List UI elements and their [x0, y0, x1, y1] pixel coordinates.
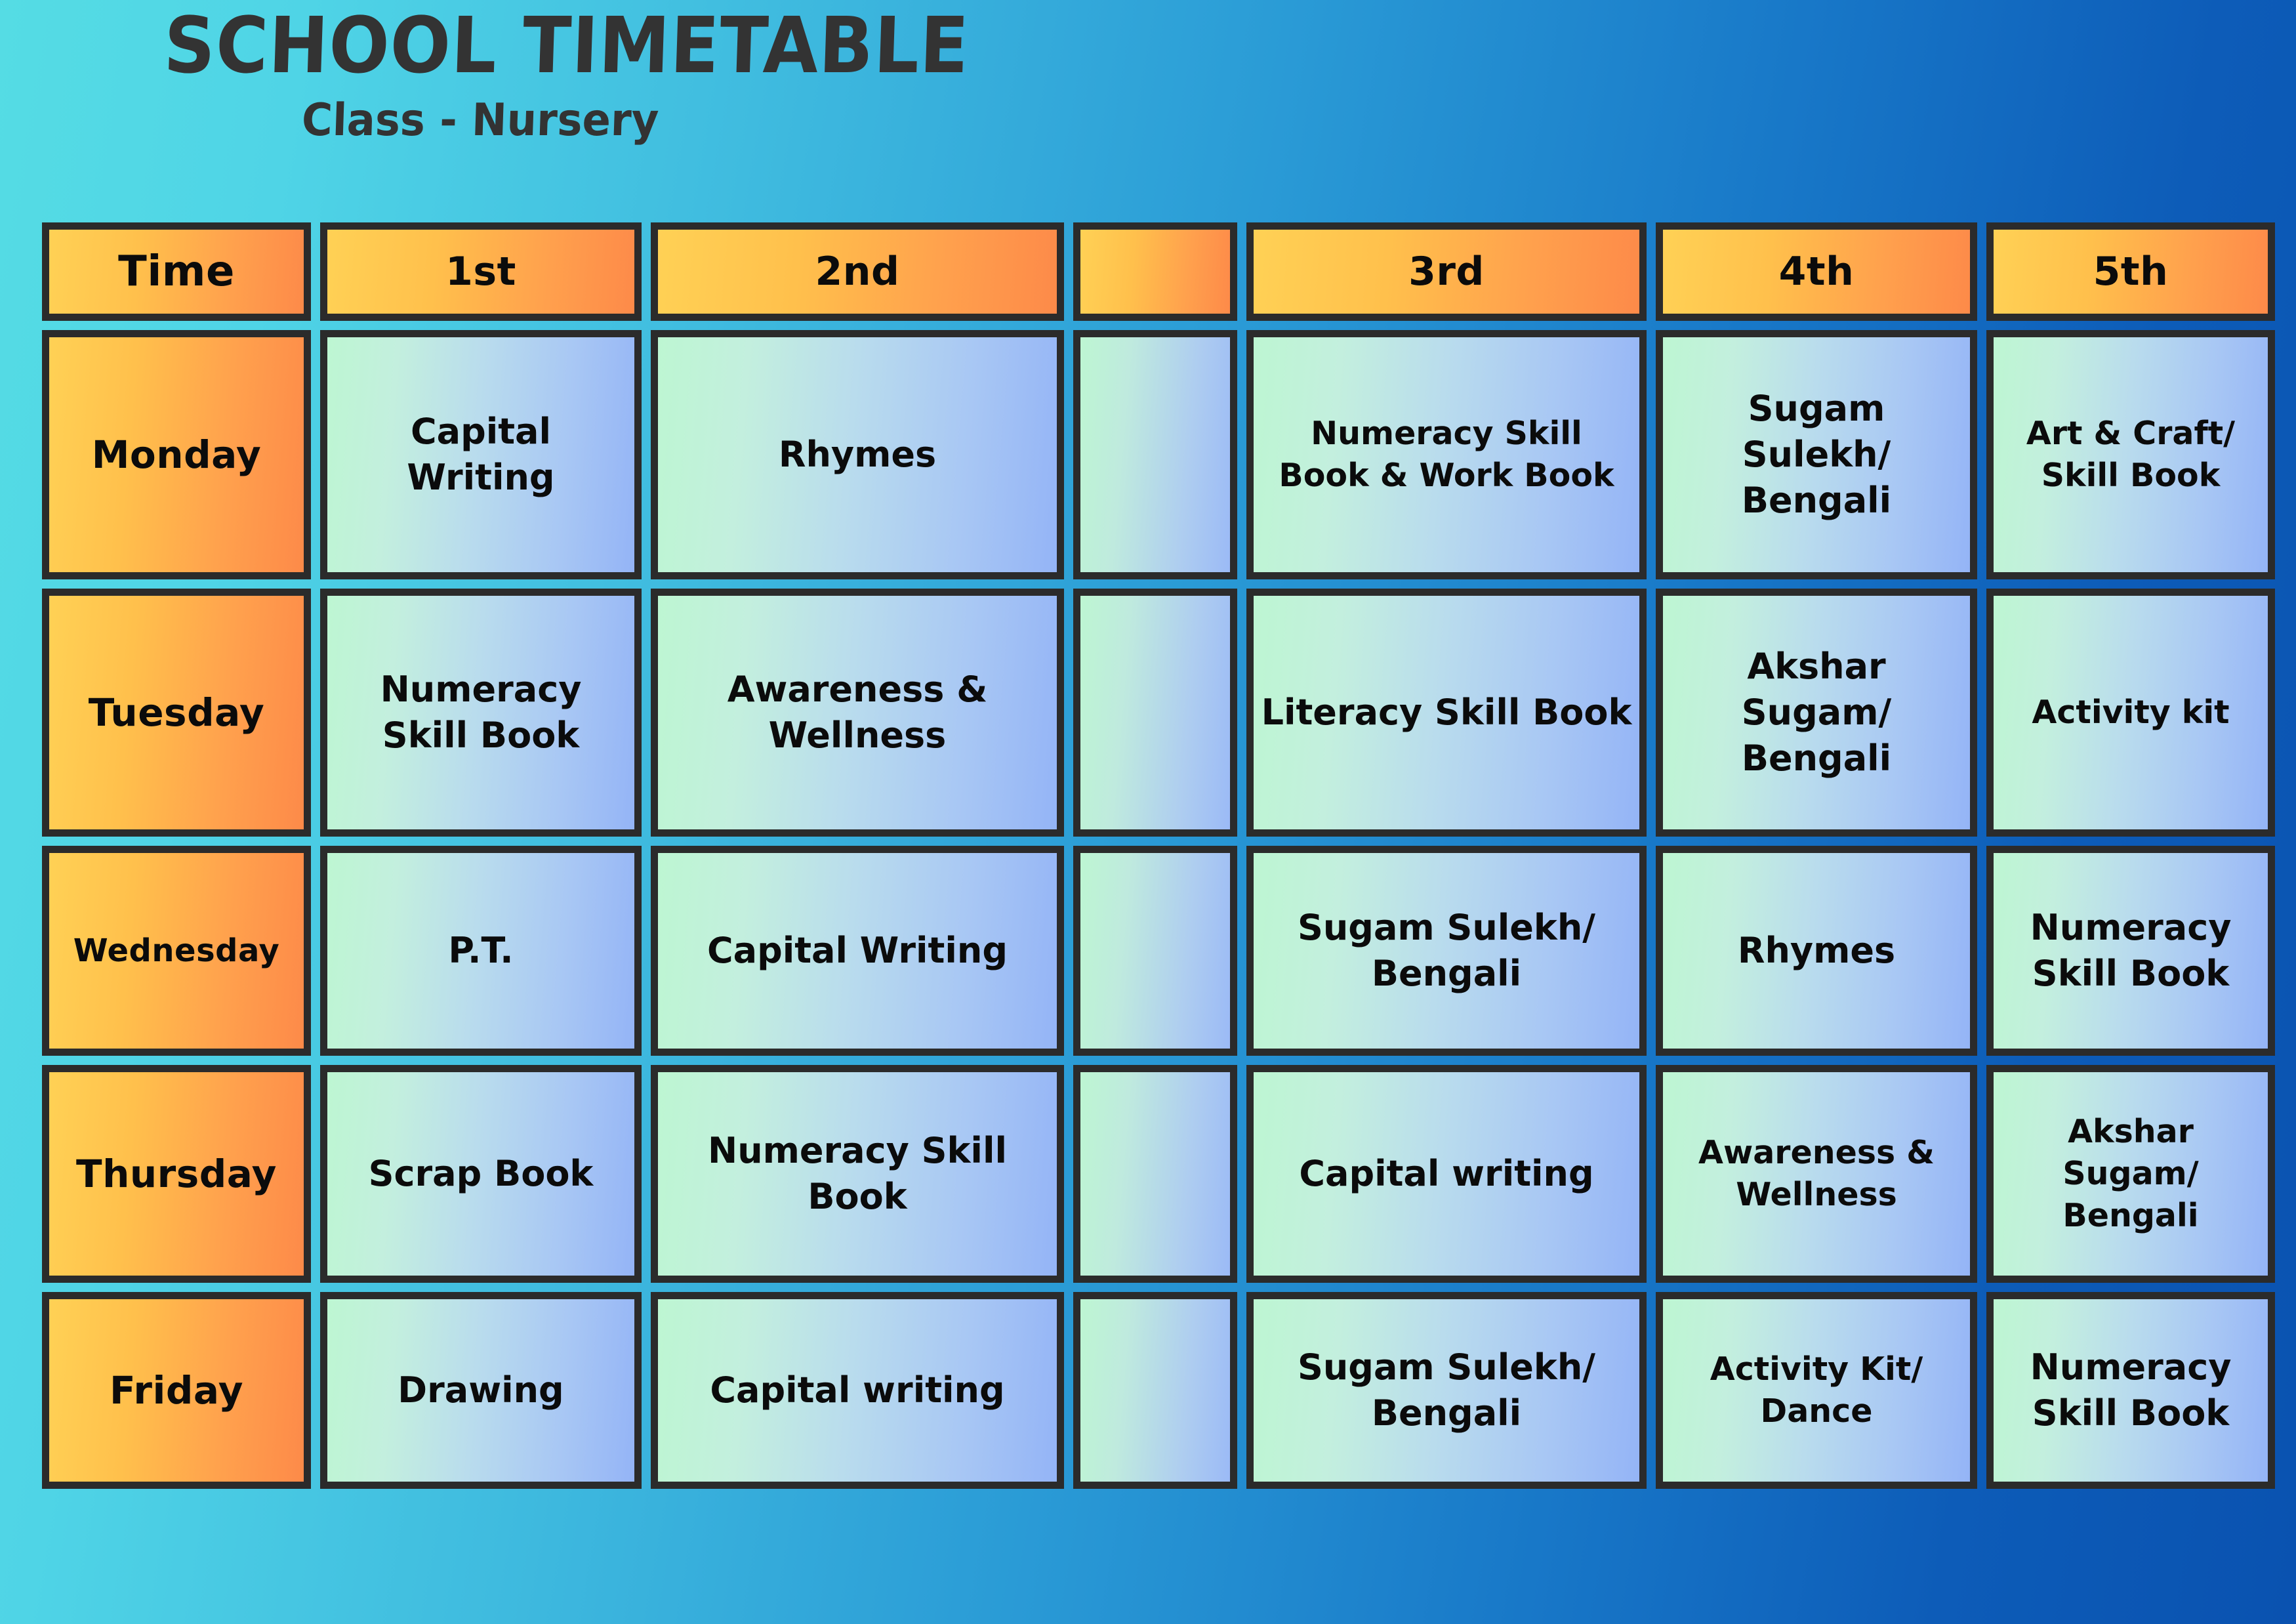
column-header-3rd: 3rd [1246, 222, 1647, 321]
cell-wednesday-5th: Numeracy Skill Book [1986, 846, 2275, 1056]
cell-friday-1st: Drawing [320, 1292, 642, 1489]
day-label-tuesday: Tuesday [42, 589, 311, 837]
day-label-wednesday: Wednesday [42, 846, 311, 1056]
timetable: Time 1st 2nd 3rd 4th 5th Monday Capital … [33, 213, 2284, 1498]
cell-wednesday-4th: Rhymes [1656, 846, 1977, 1056]
cell-friday-3rd: Sugam Sulekh/ Bengali [1246, 1292, 1647, 1489]
cell-thursday-1st: Scrap Book [320, 1065, 642, 1283]
cell-tuesday-1st: Numeracy Skill Book [320, 589, 642, 837]
class-subtitle: Class - Nursery [301, 98, 2177, 143]
cell-monday-blank [1073, 330, 1237, 579]
cell-tuesday-4th: Akshar Sugam/ Bengali [1656, 589, 1977, 837]
cell-thursday-3rd: Capital writing [1246, 1065, 1647, 1283]
cell-wednesday-2nd: Capital Writing [651, 846, 1064, 1056]
column-header-2nd: 2nd [651, 222, 1064, 321]
cell-wednesday-1st: P.T. [320, 846, 642, 1056]
cell-thursday-blank [1073, 1065, 1237, 1283]
day-label-monday: Monday [42, 330, 311, 579]
column-header-5th: 5th [1986, 222, 2275, 321]
table-header-row: Time 1st 2nd 3rd 4th 5th [42, 222, 2275, 321]
cell-thursday-4th: Awareness & Wellness [1656, 1065, 1977, 1283]
table-row: Monday Capital Writing Rhymes Numeracy S… [42, 330, 2275, 579]
column-header-time: Time [42, 222, 311, 321]
cell-friday-blank [1073, 1292, 1237, 1489]
cell-friday-5th: Numeracy Skill Book [1986, 1292, 2275, 1489]
day-label-friday: Friday [42, 1292, 311, 1489]
cell-tuesday-3rd: Literacy Skill Book [1246, 589, 1647, 837]
cell-tuesday-2nd: Awareness & Wellness [651, 589, 1064, 837]
cell-tuesday-5th: Activity kit [1986, 589, 2275, 837]
cell-thursday-2nd: Numeracy Skill Book [651, 1065, 1064, 1283]
column-header-1st: 1st [320, 222, 642, 321]
cell-thursday-5th: Akshar Sugam/ Bengali [1986, 1065, 2275, 1283]
table-row: Tuesday Numeracy Skill Book Awareness & … [42, 589, 2275, 837]
cell-wednesday-blank [1073, 846, 1237, 1056]
cell-tuesday-blank [1073, 589, 1237, 837]
column-header-blank [1073, 222, 1237, 321]
cell-monday-1st: Capital Writing [320, 330, 642, 579]
column-header-4th: 4th [1656, 222, 1977, 321]
page-title: SCHOOL TIMETABLE [163, 7, 2127, 84]
title-block: SCHOOL TIMETABLE Class - Nursery [0, 0, 2296, 143]
table-row: Thursday Scrap Book Numeracy Skill Book … [42, 1065, 2275, 1283]
cell-monday-4th: Sugam Sulekh/ Bengali [1656, 330, 1977, 579]
cell-friday-2nd: Capital writing [651, 1292, 1064, 1489]
day-label-thursday: Thursday [42, 1065, 311, 1283]
cell-wednesday-3rd: Sugam Sulekh/ Bengali [1246, 846, 1647, 1056]
cell-monday-5th: Art & Craft/ Skill Book [1986, 330, 2275, 579]
cell-monday-3rd: Numeracy Skill Book & Work Book [1246, 330, 1647, 579]
table-row: Friday Drawing Capital writing Sugam Sul… [42, 1292, 2275, 1489]
table-row: Wednesday P.T. Capital Writing Sugam Sul… [42, 846, 2275, 1056]
cell-monday-2nd: Rhymes [651, 330, 1064, 579]
cell-friday-4th: Activity Kit/ Dance [1656, 1292, 1977, 1489]
